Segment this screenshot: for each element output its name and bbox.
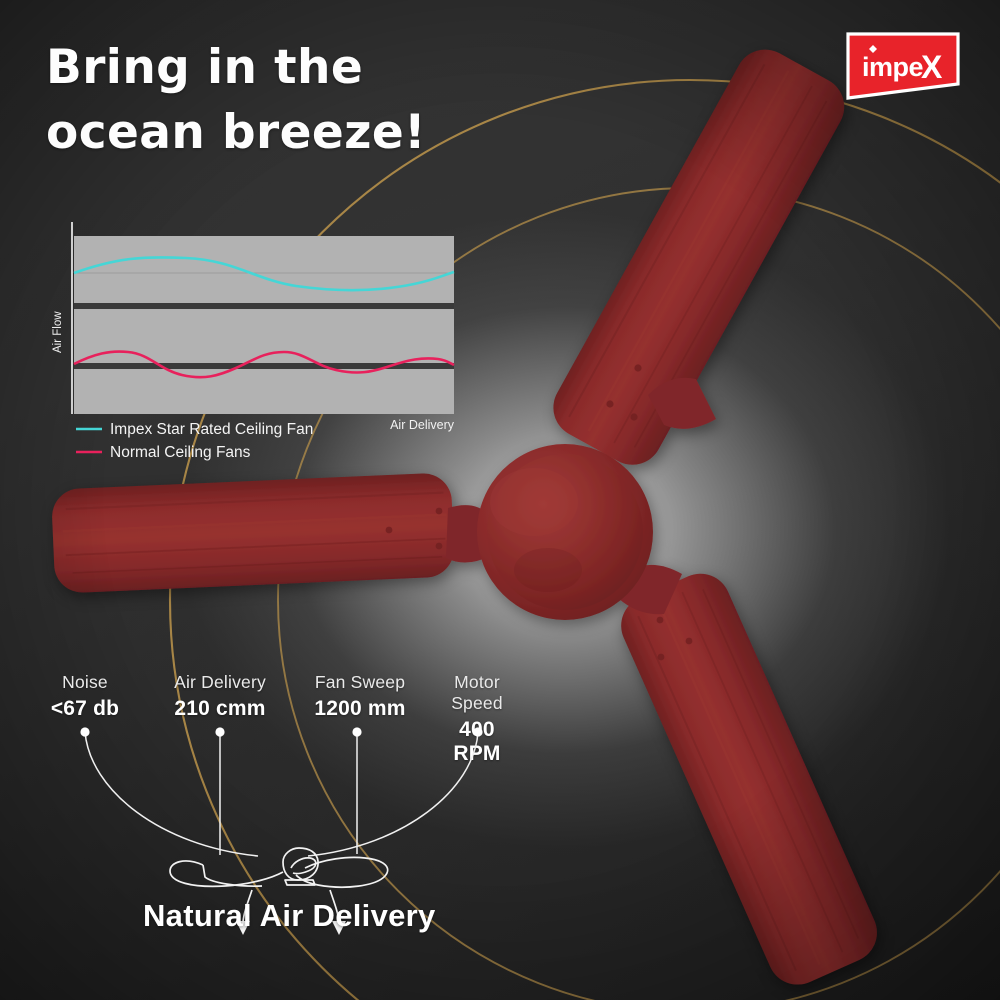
legend-label-normal: Normal Ceiling Fans <box>110 444 251 461</box>
chart-legend: Impex Star Rated Ceiling Fan Normal Ceil… <box>76 421 313 461</box>
legend-label-impex: Impex Star Rated Ceiling Fan <box>110 421 313 438</box>
chart-divider-1 <box>74 303 454 309</box>
logo-wordmark: impe <box>862 52 924 82</box>
connector-motor-speed <box>308 732 478 856</box>
impex-logo[interactable]: impe X <box>846 32 960 100</box>
chart-xlabel: Air Delivery <box>390 418 455 432</box>
connector-dots <box>80 727 482 736</box>
fan-line-icon <box>170 848 388 887</box>
chart-plot-area <box>74 236 454 414</box>
page-title: Bring in the ocean breeze! <box>46 36 516 166</box>
bottom-caption: Natural Air Delivery <box>143 898 436 934</box>
logo-accent-x: X <box>921 49 943 85</box>
headline-line-1: Bring in the <box>46 40 363 95</box>
connector-noise <box>85 732 258 856</box>
chart-ylabel: Air Flow <box>52 311 64 353</box>
poster-canvas: Bring in the ocean breeze! impe X <box>0 0 1000 1000</box>
headline-line-2: ocean breeze! <box>46 101 516 166</box>
airflow-comparison-chart: Air Flow Air Delivery Impex Star Rated C… <box>46 218 466 473</box>
